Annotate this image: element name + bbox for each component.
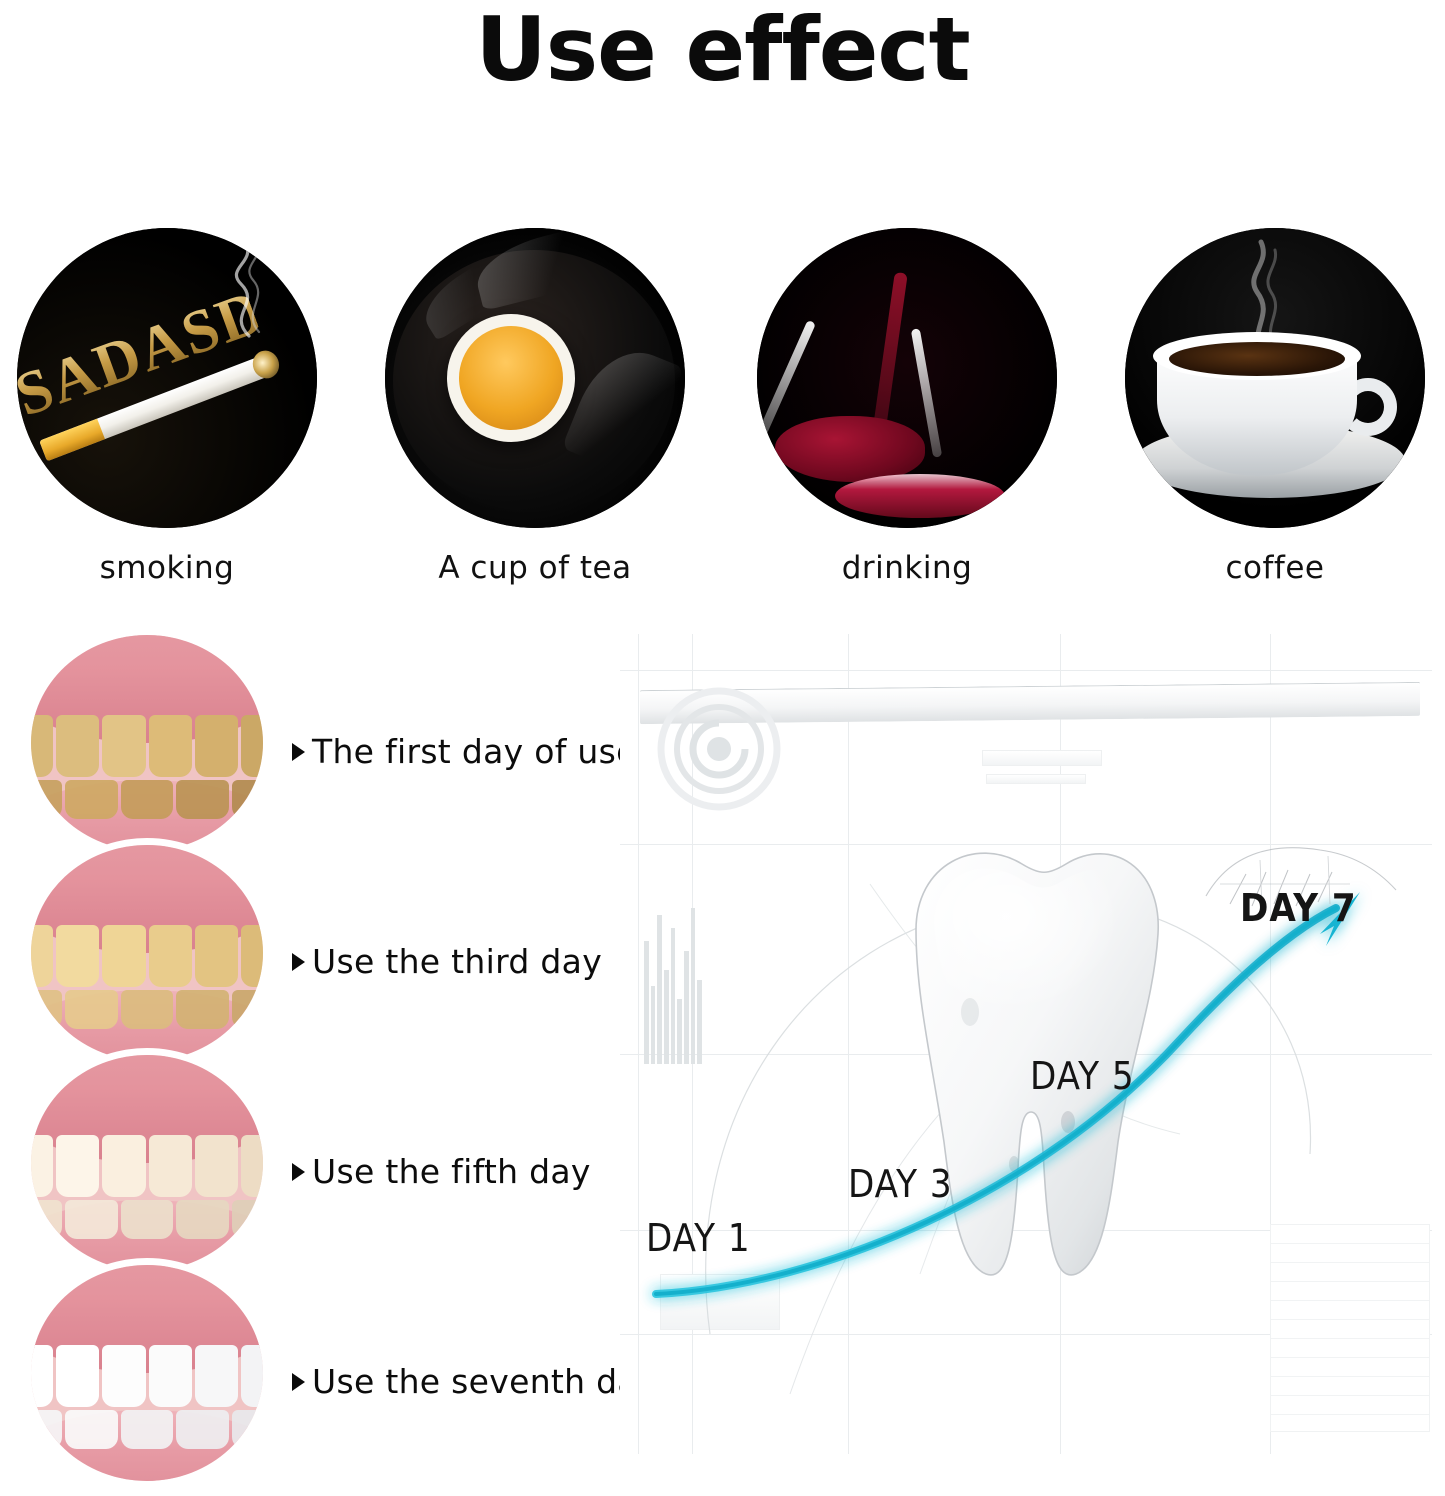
progression-row: The first day of use — [18, 628, 638, 858]
progression-label-text: Use the third day — [312, 942, 602, 981]
day-label-5: DAY 5 — [1030, 1054, 1135, 1098]
tooth — [149, 1135, 192, 1197]
tooth — [24, 1135, 53, 1197]
tooth — [24, 990, 62, 1029]
smoking-photo: SADASD — [17, 228, 317, 528]
tooth — [232, 990, 270, 1029]
progression-row: Use the fifth day — [18, 1048, 638, 1278]
tooth — [56, 1345, 99, 1407]
bullet-triangle-icon — [292, 743, 305, 761]
teeth-photo-day3 — [24, 838, 270, 1068]
tooth — [65, 1410, 118, 1449]
lower-teeth — [24, 1200, 270, 1239]
tooth — [195, 1135, 238, 1197]
habit-label-smoking: smoking — [12, 550, 322, 586]
tea-photo — [385, 228, 685, 528]
mouth-image — [24, 1048, 270, 1278]
tooth — [232, 1410, 270, 1449]
staining-causes-row: SADASD smoking — [0, 228, 1445, 588]
mouth-image — [24, 628, 270, 858]
tooth — [102, 925, 145, 987]
teeth-photo-day1 — [24, 628, 270, 858]
smoke-wisp-icon — [205, 236, 275, 341]
progression-label-day1: The first day of use — [292, 732, 637, 771]
upper-teeth — [24, 925, 270, 987]
teacup-icon — [447, 314, 575, 442]
progression-label-text: Use the fifth day — [312, 1152, 591, 1191]
tooth — [176, 1410, 229, 1449]
tooth — [195, 1345, 238, 1407]
tooth — [121, 990, 174, 1029]
progression-label-text: Use the seventh day — [312, 1362, 658, 1401]
tooth — [241, 925, 270, 987]
tooth — [24, 780, 62, 819]
tooth — [241, 1135, 270, 1197]
upper-teeth — [24, 1135, 270, 1197]
tooth — [56, 925, 99, 987]
habit-label-tea: A cup of tea — [380, 550, 690, 586]
tooth — [121, 1410, 174, 1449]
habit-label-drinking: drinking — [752, 550, 1062, 586]
upper-teeth — [24, 715, 270, 777]
bullet-triangle-icon — [292, 1373, 305, 1391]
coffee-photo — [1125, 228, 1425, 528]
tooth — [176, 1200, 229, 1239]
tooth — [102, 1345, 145, 1407]
tooth — [24, 1200, 62, 1239]
tooth — [176, 780, 229, 819]
tooth — [24, 1410, 62, 1449]
tooth — [149, 715, 192, 777]
tooth — [195, 715, 238, 777]
tooth — [102, 1135, 145, 1197]
teeth-photo-day7 — [24, 1258, 270, 1488]
progression-label-day3: Use the third day — [292, 942, 602, 981]
tooth — [195, 925, 238, 987]
tooth — [65, 990, 118, 1029]
tooth — [149, 925, 192, 987]
habit-item-coffee: coffee — [1120, 228, 1430, 586]
tooth — [24, 1345, 53, 1407]
tooth — [176, 990, 229, 1029]
progression-row: Use the third day — [18, 838, 638, 1068]
tooth — [121, 780, 174, 819]
tooth — [149, 1345, 192, 1407]
day-label-1: DAY 1 — [646, 1216, 751, 1260]
whitening-progression-list: The first day of use — [18, 628, 638, 1478]
tooth — [56, 1135, 99, 1197]
habit-item-drinking: drinking — [752, 228, 1062, 586]
tooth — [241, 715, 270, 777]
tooth — [65, 780, 118, 819]
tooth — [232, 780, 270, 819]
tooth — [121, 1200, 174, 1239]
wine-photo — [757, 228, 1057, 528]
progression-label-day7: Use the seventh day — [292, 1362, 658, 1401]
tooth — [24, 715, 53, 777]
lower-teeth — [24, 990, 270, 1029]
wine-splash — [775, 416, 925, 482]
bullet-triangle-icon — [292, 1163, 305, 1181]
day-label-3: DAY 3 — [848, 1162, 953, 1206]
progression-row: Use the seventh day — [18, 1258, 638, 1488]
habit-item-tea: A cup of tea — [380, 228, 690, 586]
coffee-liquid — [1169, 342, 1345, 376]
tooth — [56, 715, 99, 777]
habit-item-smoking: SADASD smoking — [12, 228, 322, 586]
tooth — [241, 1345, 270, 1407]
habit-label-coffee: coffee — [1120, 550, 1430, 586]
lower-teeth — [24, 1410, 270, 1449]
tea-liquid — [459, 326, 563, 430]
tooth — [24, 925, 53, 987]
mouth-image — [24, 1258, 270, 1488]
bullet-triangle-icon — [292, 953, 305, 971]
day-label-7: DAY 7 — [1240, 886, 1357, 930]
tooth — [65, 1200, 118, 1239]
wine-pool — [835, 474, 1005, 518]
progression-label-day5: Use the fifth day — [292, 1152, 591, 1191]
page-title: Use effect — [0, 6, 1445, 94]
mouth-image — [24, 838, 270, 1068]
tooth — [102, 715, 145, 777]
whitening-progress-chart: DAY 1 DAY 3 DAY 5 DAY 7 — [620, 634, 1432, 1454]
upper-teeth — [24, 1345, 270, 1407]
teeth-photo-day5 — [24, 1048, 270, 1278]
progression-label-text: The first day of use — [312, 732, 637, 771]
tooth — [232, 1200, 270, 1239]
infographic-page: Use effect SADASD smoking — [0, 0, 1445, 1496]
lower-teeth — [24, 780, 270, 819]
